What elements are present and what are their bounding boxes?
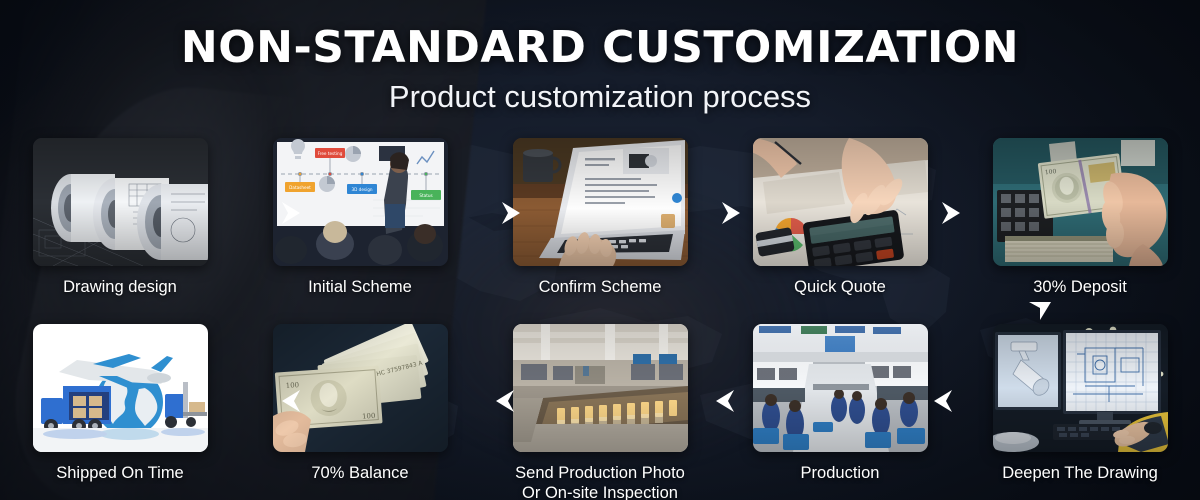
hand-holding-dollar-bill-image: 100 100 xyxy=(993,138,1168,266)
process-row-bottom: Shipped On Time xyxy=(0,324,1200,500)
step-label: 30% Deposit xyxy=(1033,277,1127,297)
step-card-shipped-on-time[interactable]: Shipped On Time xyxy=(0,324,240,500)
step-card-30-percent-deposit[interactable]: 100 100 30% xyxy=(960,138,1200,297)
svg-text:Datasheet: Datasheet xyxy=(289,185,311,190)
step-label: Shipped On Time xyxy=(56,463,184,483)
process-row-top: Drawing design Datasheet Free testing 3D… xyxy=(0,138,1200,297)
step-card-initial-scheme[interactable]: Datasheet Free testing 3D design Status xyxy=(240,138,480,297)
logistics-plane-truck-globe-image xyxy=(33,324,208,452)
arrow-production-to-photo xyxy=(712,388,738,414)
cad-dual-monitor-image xyxy=(993,324,1168,452)
svg-text:3D design: 3D design xyxy=(351,187,372,192)
step-label: Quick Quote xyxy=(794,277,886,297)
step-label: Deepen The Drawing xyxy=(1002,463,1158,483)
svg-text:Status: Status xyxy=(419,193,432,198)
step-label: Production xyxy=(801,463,880,483)
laptop-desk-image xyxy=(513,138,688,266)
step-card-production[interactable]: Production xyxy=(720,324,960,500)
step-card-drawing-design[interactable]: Drawing design xyxy=(0,138,240,297)
arrow-drawing-to-initial xyxy=(278,200,304,226)
arrow-confirm-to-quote xyxy=(718,200,744,226)
calculator-hand-image xyxy=(753,138,928,266)
step-label: 70% Balance xyxy=(311,463,408,483)
arrow-quote-to-deposit xyxy=(938,200,964,226)
arrow-deepen-to-production xyxy=(930,388,956,414)
step-label: Initial Scheme xyxy=(308,277,412,297)
step-label: Drawing design xyxy=(63,277,177,297)
arrow-photo-to-balance xyxy=(492,388,518,414)
arrow-balance-to-shipped xyxy=(278,388,304,414)
step-label: Send Production Photo Or On-site Inspect… xyxy=(515,463,685,500)
step-card-deepen-the-drawing[interactable]: Deepen The Drawing xyxy=(960,324,1200,500)
svg-text:Free testing: Free testing xyxy=(317,151,342,156)
page-title: NON-STANDARD CUSTOMIZATION xyxy=(0,22,1200,73)
step-card-70-percent-balance[interactable]: 100 100 HC 37597843 A 70% Balance xyxy=(240,324,480,500)
page-subtitle: Product customization process xyxy=(0,79,1200,115)
step-label: Confirm Scheme xyxy=(539,277,662,297)
factory-assembly-line-image xyxy=(753,324,928,452)
production-hall-lights-image xyxy=(513,324,688,452)
step-card-quick-quote[interactable]: Quick Quote xyxy=(720,138,960,297)
arrow-initial-to-confirm xyxy=(498,200,524,226)
arrow-deposit-to-deepen xyxy=(1027,298,1053,324)
customization-process-banner: NON-STANDARD CUSTOMIZATION Product custo… xyxy=(0,0,1200,500)
banner-heading-group: NON-STANDARD CUSTOMIZATION Product custo… xyxy=(0,0,1200,115)
rolled-blueprints-image xyxy=(33,138,208,266)
